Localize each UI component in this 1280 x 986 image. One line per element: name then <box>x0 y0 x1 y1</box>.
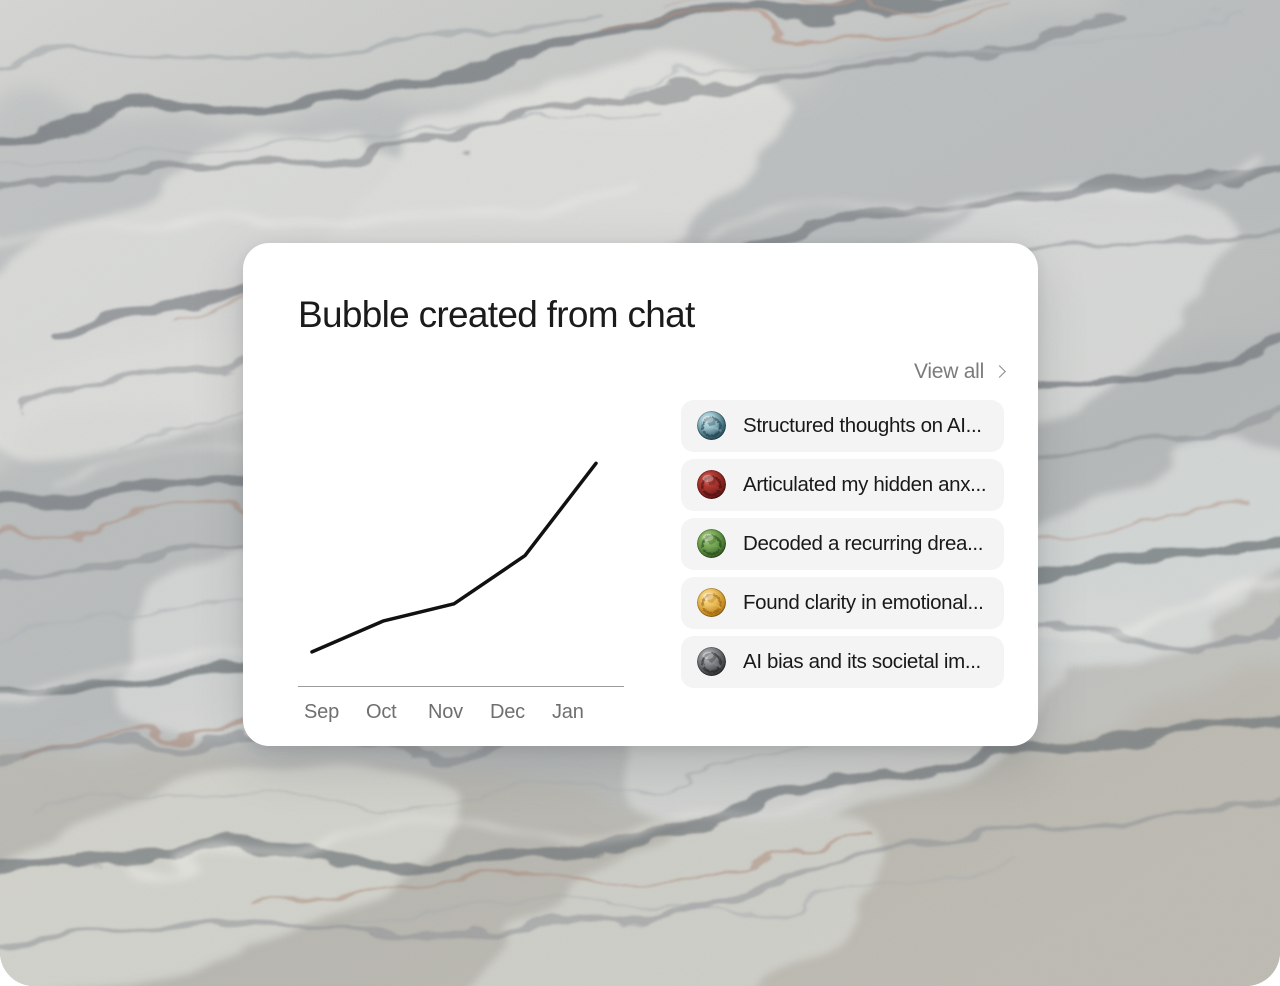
view-all-row: View all <box>681 358 1004 386</box>
page-title: Bubble created from chat <box>298 295 1004 336</box>
chart-tick-oct: Oct <box>366 701 428 724</box>
list-item[interactable]: Articulated my hidden anx... <box>681 459 1004 511</box>
bubble-list: Structured thoughts on AI...Articulated … <box>681 400 1004 688</box>
list-item[interactable]: Found clarity in emotional... <box>681 577 1004 629</box>
activity-chart: Sep Oct Nov Dec Jan <box>298 358 624 724</box>
bubble-orb-amber-icon <box>697 588 726 617</box>
list-item[interactable]: AI bias and its societal im... <box>681 636 1004 688</box>
list-item-label: Decoded a recurring drea... <box>743 532 983 556</box>
list-item-label: Found clarity in emotional... <box>743 591 984 615</box>
chart-tick-sep: Sep <box>304 701 366 724</box>
list-item[interactable]: Structured thoughts on AI... <box>681 400 1004 452</box>
list-item[interactable]: Decoded a recurring drea... <box>681 518 1004 570</box>
list-item-label: Articulated my hidden anx... <box>743 473 986 497</box>
chart-x-axis <box>298 686 624 687</box>
chevron-right-icon <box>993 365 1006 378</box>
bubble-list-panel: View all Structured thoughts on AI...Art… <box>681 358 1004 688</box>
chart-plot-area <box>298 430 624 683</box>
list-item-label: AI bias and its societal im... <box>743 650 981 674</box>
chart-tick-jan: Jan <box>552 701 614 724</box>
bubble-orb-teal-icon <box>697 411 726 440</box>
bubble-orb-crimson-icon <box>697 470 726 499</box>
bubble-orb-green-icon <box>697 529 726 558</box>
bubble-card: Bubble created from chat Sep Oct Nov Dec… <box>243 243 1038 746</box>
chart-tick-nov: Nov <box>428 701 490 724</box>
device-frame: Bubble created from chat Sep Oct Nov Dec… <box>0 0 1280 986</box>
chart-x-tick-labels: Sep Oct Nov Dec Jan <box>298 701 624 724</box>
bubble-orb-graphite-icon <box>697 647 726 676</box>
list-item-label: Structured thoughts on AI... <box>743 414 982 438</box>
chart-line-series <box>312 463 596 652</box>
chart-tick-dec: Dec <box>490 701 552 724</box>
view-all-button[interactable]: View all <box>914 360 1004 384</box>
view-all-label: View all <box>914 360 984 384</box>
card-body: Sep Oct Nov Dec Jan View all Structured … <box>298 358 1004 724</box>
